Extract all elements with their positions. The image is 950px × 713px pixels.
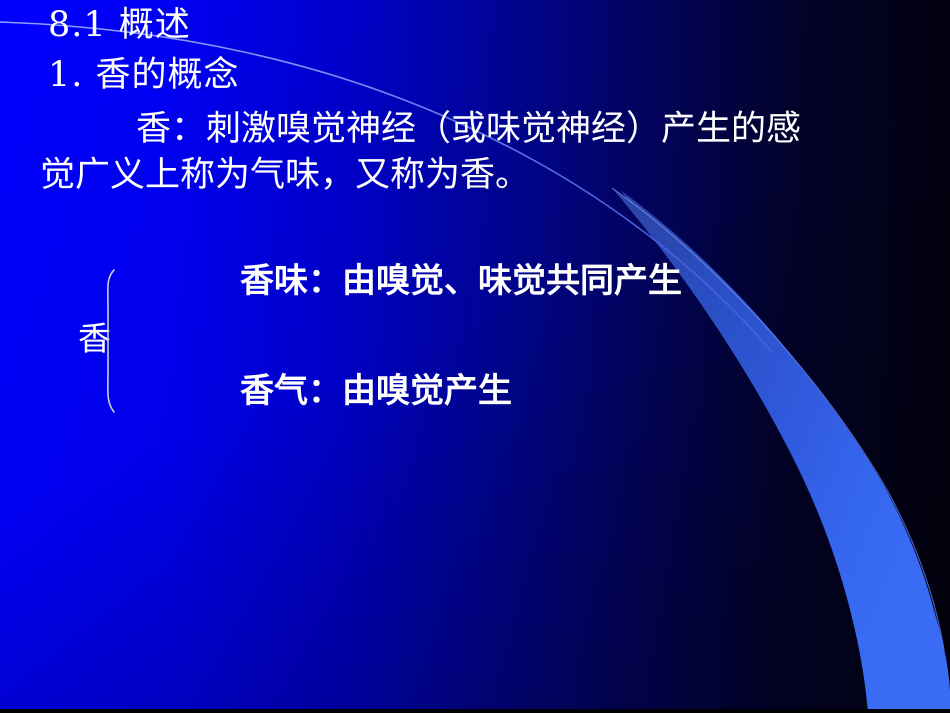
bottom-border-strip — [0, 709, 950, 713]
brace-item-xiangwei: 香味：由嗅觉、味觉共同产生 — [240, 264, 682, 298]
definition-paragraph-line-1: 香：刺激嗅觉神经（或味觉神经）产生的感 — [40, 112, 801, 147]
slide-title-subsection: 1. 香的概念 — [48, 58, 240, 93]
background-base — [0, 0, 950, 713]
curly-brace-icon — [98, 268, 124, 414]
brace-item-xiangqi: 香气：由嗅觉产生 — [240, 374, 512, 408]
definition-paragraph-line-2: 觉广义上称为气味，又称为香。 — [40, 158, 530, 193]
decorative-arc-crescent-edge — [612, 188, 944, 650]
accent-region-right — [626, 0, 950, 713]
background-vignette — [0, 0, 950, 713]
slide-background-artwork — [0, 0, 950, 713]
slide-title-section-number: 8.1 概述 — [48, 8, 191, 43]
slide-canvas: 8.1 概述 1. 香的概念 香：刺激嗅觉神经（或味觉神经）产生的感 觉广义上称… — [0, 0, 950, 713]
